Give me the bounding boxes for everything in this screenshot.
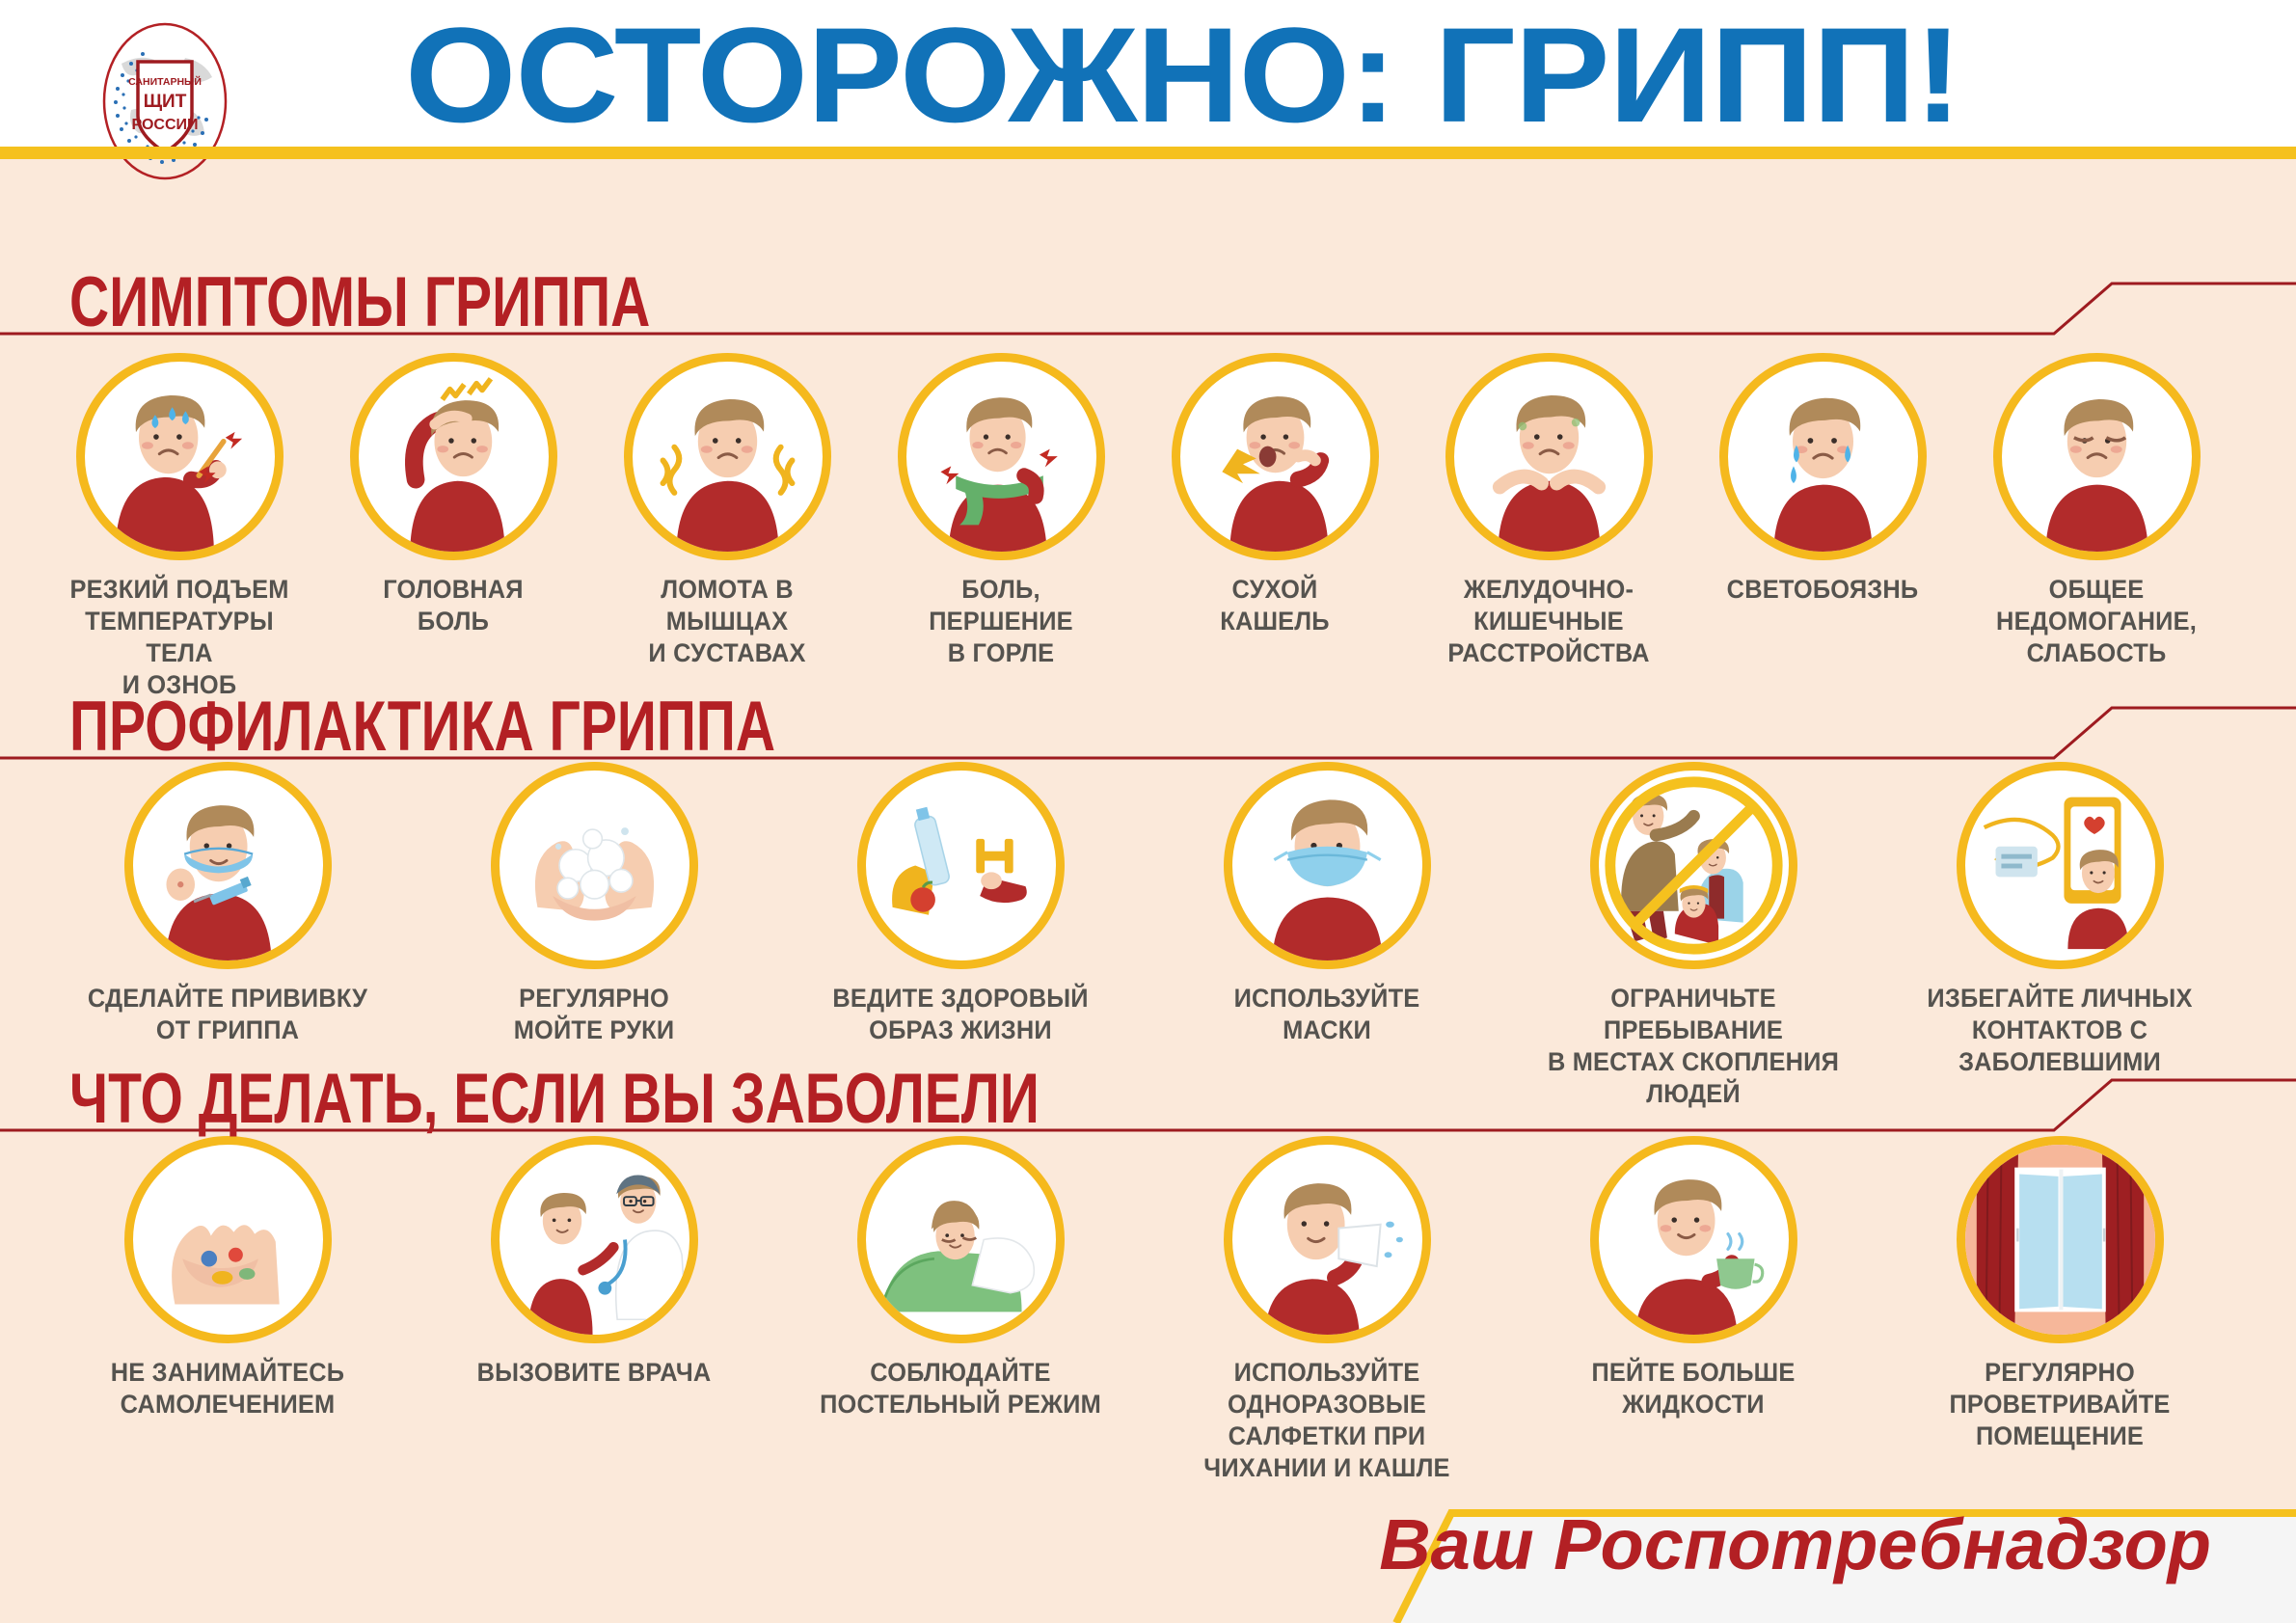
general-weakness-icon [1993, 353, 2201, 560]
logo-line-3: РОССИИ [131, 117, 198, 133]
sore-throat-icon [898, 353, 1105, 560]
no-self-medication-icon [124, 1136, 332, 1343]
info-card-caption: ВЕДИТЕ ЗДОРОВЫЙОБРАЗ ЖИЗНИ [788, 983, 1132, 1046]
fever-thermometer-icon [76, 353, 284, 560]
info-card: ОГРАНИЧЬТЕ ПРЕБЫВАНИЕВ МЕСТАХ СКОПЛЕНИЯ … [1510, 762, 1877, 1110]
info-card: ВЫЗОВИТЕ ВРАЧА [411, 1136, 777, 1484]
section-title-text: ЧТО ДЕЛАТЬ, ЕСЛИ ВЫ ЗАБОЛЕЛИ [69, 1059, 1040, 1140]
section-heading-if-sick: ЧТО ДЕЛАТЬ, ЕСЛИ ВЫ ЗАБОЛЕЛИ [0, 1059, 2296, 1142]
muscle-joint-ache-icon [624, 353, 831, 560]
headache-icon [350, 353, 557, 560]
disposable-tissue-icon [1224, 1136, 1431, 1343]
info-card-caption: ВЫЗОВИТЕ ВРАЧА [421, 1357, 766, 1389]
info-card-caption: ЛОМОТА В МЫШЦАХИ СУСТАВАХ [599, 574, 856, 669]
info-card: НЕ ЗАНИМАЙТЕСЬСАМОЛЕЧЕНИЕМ [44, 1136, 411, 1484]
info-card: ГОЛОВНАЯБОЛЬ [316, 353, 590, 701]
poster-footer: Ваш Роспотребнадзор [0, 1478, 2296, 1623]
page-title: ОСТОРОЖНО: ГРИПП! [405, 8, 2296, 143]
section-title-text: СИМПТОМЫ ГРИППА [69, 262, 650, 343]
header-gold-divider [0, 147, 2296, 159]
healthy-lifestyle-icon [857, 762, 1065, 969]
info-card-caption: СДЕЛАЙТЕ ПРИВИВКУОТ ГРИППА [55, 983, 399, 1046]
info-card: ОБЩЕЕНЕДОМОГАНИЕ,СЛАБОСТЬ [1959, 353, 2233, 701]
wash-hands-icon [491, 762, 698, 969]
section-title-text: ПРОФИЛАКТИКА ГРИППА [69, 687, 775, 768]
avoid-contact-online-icon [1957, 762, 2164, 969]
face-mask-icon [1224, 762, 1431, 969]
footer-brand-text: Ваш Роспотребнадзор [1379, 1503, 2211, 1585]
logo-line-1: САНИТАРНЫЙ [128, 75, 202, 88]
if-sick-row: НЕ ЗАНИМАЙТЕСЬСАМОЛЕЧЕНИЕМ ВЫЗОВИТЕ ВРАЧ… [0, 1136, 2296, 1484]
info-card: ИСПОЛЬЗУЙТЕ ОДНОРАЗОВЫЕСАЛФЕТКИ ПРИЧИХАН… [1144, 1136, 1510, 1484]
info-card-caption: ОБЩЕЕНЕДОМОГАНИЕ,СЛАБОСТЬ [1968, 574, 2226, 669]
info-card-caption: СОБЛЮДАЙТЕПОСТЕЛЬНЫЙ РЕЖИМ [788, 1357, 1132, 1420]
info-card-caption: ИСПОЛЬЗУЙТЕ ОДНОРАЗОВЫЕСАЛФЕТКИ ПРИЧИХАН… [1154, 1357, 1499, 1484]
info-card-caption: РЕГУЛЯРНОМОЙТЕ РУКИ [421, 983, 766, 1046]
info-card: БОЛЬ,ПЕРШЕНИЕВ ГОРЛЕ [864, 353, 1138, 701]
symptoms-row: РЕЗКИЙ ПОДЪЕМТЕМПЕРАТУРЫ ТЕЛАИ ОЗНОБ ГОЛ… [0, 353, 2296, 701]
info-card: РЕГУЛЯРНОМОЙТЕ РУКИ [411, 762, 777, 1110]
ventilate-room-icon [1957, 1136, 2164, 1343]
info-card: СДЕЛАЙТЕ ПРИВИВКУОТ ГРИППА [44, 762, 411, 1110]
info-card: ПЕЙТЕ БОЛЬШЕЖИДКОСТИ [1510, 1136, 1877, 1484]
dry-cough-icon [1172, 353, 1379, 560]
section-heading-symptoms: СИМПТОМЫ ГРИППА [0, 262, 2296, 345]
bed-rest-icon [857, 1136, 1065, 1343]
info-card-caption: ИСПОЛЬЗУЙТЕМАСКИ [1154, 983, 1499, 1046]
section-heading-prevention: ПРОФИЛАКТИКА ГРИППА [0, 687, 2296, 770]
info-card: РЕЗКИЙ ПОДЪЕМТЕМПЕРАТУРЫ ТЕЛАИ ОЗНОБ [42, 353, 316, 701]
info-card: ЖЕЛУДОЧНО-КИШЕЧНЫЕРАССТРОЙСТВА [1412, 353, 1686, 701]
call-doctor-icon [491, 1136, 698, 1343]
drink-fluids-icon [1590, 1136, 1797, 1343]
stomach-upset-icon [1445, 353, 1653, 560]
info-card-caption: БОЛЬ,ПЕРШЕНИЕВ ГОРЛЕ [873, 574, 1130, 669]
info-card: РЕГУЛЯРНОПРОВЕТРИВАЙТЕ ПОМЕЩЕНИЕ [1877, 1136, 2243, 1484]
no-crowds-icon [1590, 762, 1797, 969]
info-card-caption: СУХОЙКАШЕЛЬ [1147, 574, 1404, 637]
info-card: СУХОЙКАШЕЛЬ [1138, 353, 1412, 701]
logo-line-2: ЩИТ [144, 92, 187, 112]
vaccination-icon [124, 762, 332, 969]
photophobia-icon [1719, 353, 1927, 560]
flu-awareness-poster: САНИТАРНЫЙ ЩИТ РОССИИ ОСТОРОЖНО: ГРИПП! … [0, 0, 2296, 1623]
info-card-caption: РЕГУЛЯРНОПРОВЕТРИВАЙТЕ ПОМЕЩЕНИЕ [1887, 1357, 2231, 1452]
sanitary-shield-of-russia-logo: САНИТАРНЫЙ ЩИТ РОССИИ [93, 15, 237, 187]
info-card-caption: ГОЛОВНАЯБОЛЬ [325, 574, 582, 637]
info-card-caption: ПЕЙТЕ БОЛЬШЕЖИДКОСТИ [1521, 1357, 1865, 1420]
info-card: СОБЛЮДАЙТЕПОСТЕЛЬНЫЙ РЕЖИМ [777, 1136, 1144, 1484]
info-card-caption: РЕЗКИЙ ПОДЪЕМТЕМПЕРАТУРЫ ТЕЛАИ ОЗНОБ [51, 574, 309, 701]
info-card: ВЕДИТЕ ЗДОРОВЫЙОБРАЗ ЖИЗНИ [777, 762, 1144, 1110]
info-card: СВЕТОБОЯЗНЬ [1686, 353, 1959, 701]
info-card: ЛОМОТА В МЫШЦАХИ СУСТАВАХ [590, 353, 864, 701]
info-card: ИЗБЕГАЙТЕ ЛИЧНЫХКОНТАКТОВ С ЗАБОЛЕВШИМИ [1877, 762, 2243, 1110]
info-card-caption: ЖЕЛУДОЧНО-КИШЕЧНЫЕРАССТРОЙСТВА [1420, 574, 1678, 669]
poster-header: САНИТАРНЫЙ ЩИТ РОССИИ ОСТОРОЖНО: ГРИПП! [0, 0, 2296, 147]
info-card-caption: НЕ ЗАНИМАЙТЕСЬСАМОЛЕЧЕНИЕМ [55, 1357, 399, 1420]
info-card-caption: СВЕТОБОЯЗНЬ [1694, 574, 1952, 606]
info-card: ИСПОЛЬЗУЙТЕМАСКИ [1144, 762, 1510, 1110]
prevention-row: СДЕЛАЙТЕ ПРИВИВКУОТ ГРИППА РЕГУЛЯРНОМОЙТ… [0, 762, 2296, 1110]
